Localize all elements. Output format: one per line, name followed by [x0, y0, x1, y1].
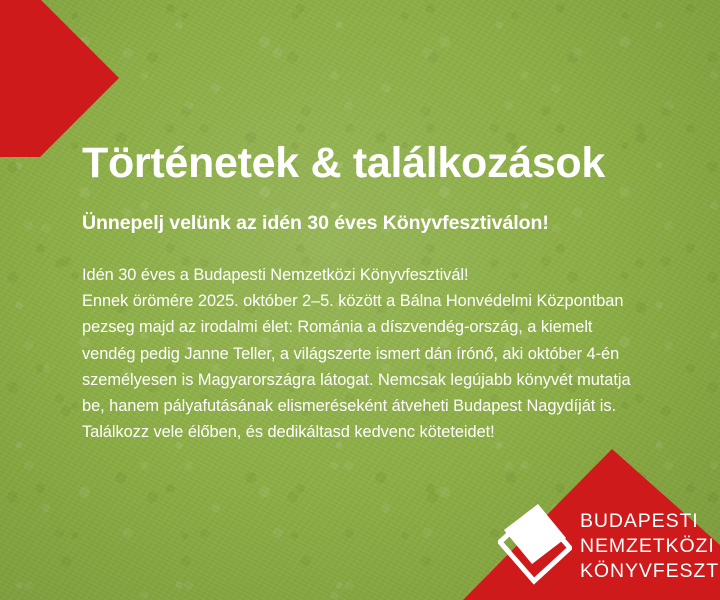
open-book-icon — [498, 504, 572, 586]
body-line: pezseg majd az irodalmi élet: Románia a … — [82, 314, 657, 340]
body-line: személyesen is Magyarországra látogat. N… — [82, 367, 657, 393]
red-chevron-arrow-shape — [0, 0, 119, 157]
poster-banner: Történetek & találkozások Ünnepelj velün… — [0, 0, 720, 600]
body-line: vendég pedig Janne Teller, a világszerte… — [82, 341, 657, 367]
body-line: be, hanem pályafutásának elismeréseként … — [82, 393, 657, 419]
subtitle: Ünnepelj velünk az idén 30 éves Könyvfes… — [82, 188, 657, 236]
festival-logo: BUDAPESTI NEMZETKÖZI KÖNYVFESZTIVÁL — [498, 503, 712, 587]
logo-line-budapesti: BUDAPESTI — [580, 509, 720, 534]
body-line: Találkozz vele élőben, és dedikáltasd ke… — [82, 419, 657, 445]
logo-wordmark: BUDAPESTI NEMZETKÖZI KÖNYVFESZTIVÁL — [580, 507, 720, 584]
page-title: Történetek & találkozások — [82, 138, 657, 188]
logo-line-nemzetkozi: NEMZETKÖZI — [580, 534, 720, 559]
logo-line-konyvfesztival: KÖNYVFESZTIVÁL — [580, 559, 720, 584]
text-content: Történetek & találkozások Ünnepelj velün… — [82, 138, 657, 445]
body-line: Idén 30 éves a Budapesti Nemzetközi Köny… — [82, 262, 657, 288]
body-paragraph: Idén 30 éves a Budapesti Nemzetközi Köny… — [82, 236, 657, 445]
body-line: Ennek örömére 2025. október 2–5. között … — [82, 288, 657, 314]
